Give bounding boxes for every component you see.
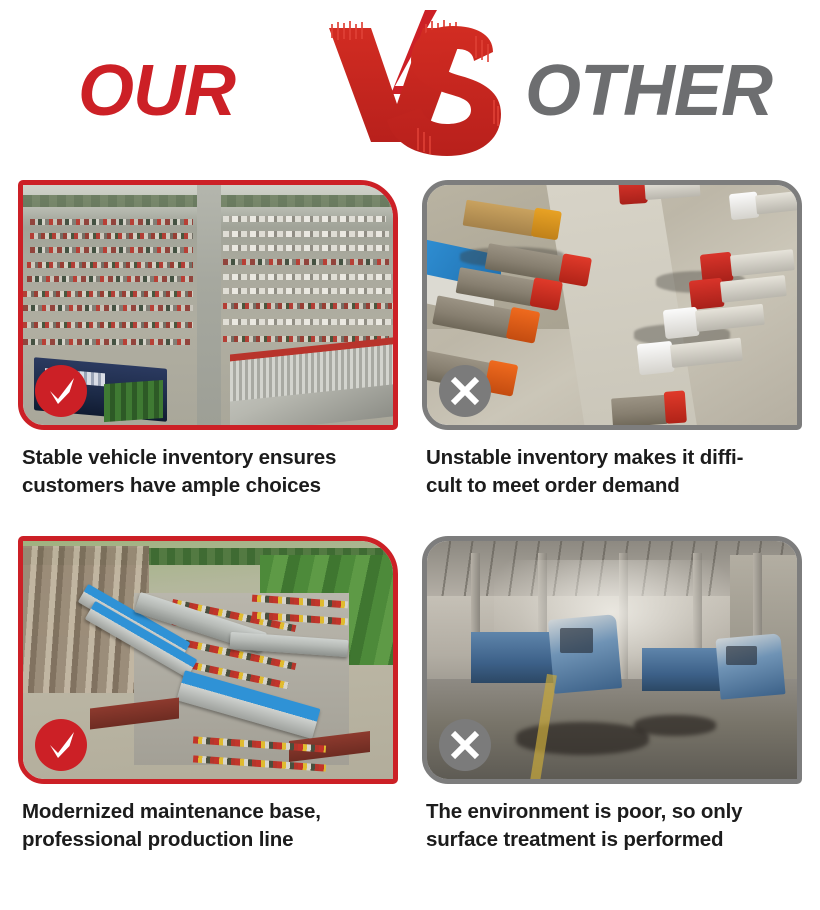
caption-bad: The environment is poor, so only surface… [426, 798, 802, 854]
header-other-label: OTHER [525, 52, 772, 130]
comparison-cell-bad: Unstable inventory makes it diffi- cult … [410, 180, 820, 500]
caption-bad: Unstable inventory makes it diffi- cult … [426, 444, 802, 500]
check-circle-icon [35, 719, 87, 771]
comparison-cell-good: Stable vehicle inventory ensures custome… [0, 180, 410, 500]
photo-card-good[interactable] [18, 536, 398, 784]
row-spacer [0, 500, 820, 536]
cross-circle-icon [439, 365, 491, 417]
header-our-label: OUR [78, 52, 235, 130]
photo-card-bad[interactable] [422, 180, 802, 430]
check-circle-icon [35, 365, 87, 417]
comparison-row: Modernized maintenance base, professiona… [0, 536, 820, 854]
vs-lightning-logo [325, 8, 505, 180]
comparison-header: OUR [0, 0, 820, 180]
photo-card-good[interactable] [18, 180, 398, 430]
photo-card-bad[interactable] [422, 536, 802, 784]
caption-good: Modernized maintenance base, professiona… [22, 798, 398, 854]
comparison-cell-good: Modernized maintenance base, professiona… [0, 536, 410, 854]
comparison-cell-bad: The environment is poor, so only surface… [410, 536, 820, 854]
cross-circle-icon [439, 719, 491, 771]
comparison-row: Stable vehicle inventory ensures custome… [0, 180, 820, 500]
comparison-grid: Stable vehicle inventory ensures custome… [0, 180, 820, 854]
caption-good: Stable vehicle inventory ensures custome… [22, 444, 398, 500]
